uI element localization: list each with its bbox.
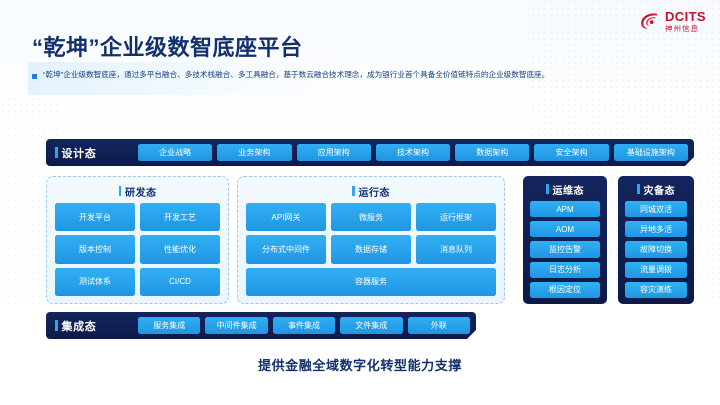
footer-caption: 提供金融全域数字化转型能力支撑 (0, 355, 720, 374)
dev-panel-row: 版本控制 性能优化 (55, 235, 220, 263)
dr-panel-row: 容灾演练 (625, 282, 687, 298)
runtime-panel-header: 运行态 (246, 183, 496, 199)
dev-panel-grid: 开发平台 开发工艺 版本控制 性能优化 测试体系 CI/CD (55, 203, 220, 296)
dr-panel-row: 同城双活 (625, 201, 687, 217)
dev-cell[interactable]: 性能优化 (140, 235, 220, 263)
runtime-panel: 运行态 API网关 微服务 运行框架 分布式中间件 数据存储 消息队列 容器服务 (237, 176, 505, 304)
dev-panel-row: 测试体系 CI/CD (55, 268, 220, 296)
ops-panel-label: 运维态 (553, 182, 585, 197)
dev-cell[interactable]: 开发工艺 (140, 203, 220, 231)
brand-logo: DCITS 神州信息 (639, 10, 706, 33)
tick-marker-icon (119, 186, 122, 196)
slide-canvas: DCITS 神州信息 “乾坤”企业级数智底座平台 “乾坤”企业级数智底座，通过多… (0, 0, 720, 405)
dev-cell[interactable]: 版本控制 (55, 235, 135, 263)
runtime-panel-grid: API网关 微服务 运行框架 分布式中间件 数据存储 消息队列 容器服务 (246, 203, 496, 296)
runtime-cell[interactable]: 容器服务 (246, 268, 496, 296)
ops-cell[interactable]: 根因定位 (530, 282, 600, 298)
integration-chip[interactable]: 文件集成 (340, 317, 402, 334)
ops-cell[interactable]: APM (530, 201, 600, 217)
design-chip[interactable]: 企业战略 (138, 144, 212, 161)
dr-cell[interactable]: 流量调拨 (625, 262, 687, 278)
dr-panel-row: 异地多活 (625, 221, 687, 237)
ops-cell[interactable]: AOM (530, 221, 600, 237)
design-chip[interactable]: 技术架构 (376, 144, 450, 161)
ops-panel-row: 根因定位 (530, 282, 600, 298)
tick-marker-icon (546, 184, 549, 194)
integration-layer-band: 集成态 服务集成 中间件集成 事件集成 文件集成 外联 (46, 312, 476, 339)
integration-layer-label: 集成态 (62, 318, 97, 334)
runtime-panel-row: API网关 微服务 运行框架 (246, 203, 496, 231)
ops-panel-row: 监控告警 (530, 241, 600, 257)
ops-panel-row: 日志分析 (530, 262, 600, 278)
dr-panel-row: 流量调拨 (625, 262, 687, 278)
page-title: “乾坤”企业级数智底座平台 (32, 30, 303, 62)
runtime-panel-row: 分布式中间件 数据存储 消息队列 (246, 235, 496, 263)
design-layer-label: 设计态 (62, 145, 97, 161)
runtime-cell[interactable]: API网关 (246, 203, 326, 231)
integration-chip[interactable]: 中间件集成 (205, 317, 267, 334)
runtime-cell[interactable]: 消息队列 (416, 235, 496, 263)
runtime-cell[interactable]: 微服务 (331, 203, 411, 231)
runtime-panel-label: 运行态 (359, 184, 391, 199)
dcits-swirl-icon (639, 10, 661, 32)
design-chip[interactable]: 应用架构 (297, 144, 371, 161)
dev-panel-row: 开发平台 开发工艺 (55, 203, 220, 231)
brand-name-en: DCITS (665, 10, 706, 23)
runtime-cell[interactable]: 数据存储 (331, 235, 411, 263)
architecture-diagram: 设计态 企业战略 业务架构 应用架构 技术架构 数据架构 安全架构 基础设施架构… (46, 139, 694, 339)
integration-layer-title: 集成态 (55, 318, 133, 334)
dev-panel-label: 研发态 (125, 184, 157, 199)
runtime-panel-row: 容器服务 (246, 268, 496, 296)
design-chip[interactable]: 基础设施架构 (614, 144, 688, 161)
tick-marker-icon (637, 184, 640, 194)
design-chip[interactable]: 安全架构 (534, 144, 608, 161)
ops-panel-row: APM (530, 201, 600, 217)
runtime-cell[interactable]: 分布式中间件 (246, 235, 326, 263)
brand-name-cn: 神州信息 (665, 25, 706, 33)
design-layer-band: 设计态 企业战略 业务架构 应用架构 技术架构 数据架构 安全架构 基础设施架构 (46, 139, 694, 166)
ops-panel-grid: APM AOM 监控告警 日志分析 根因定位 (530, 201, 600, 298)
ops-panel-header: 运维态 (530, 181, 600, 197)
ops-panel-row: AOM (530, 221, 600, 237)
subtitle-row: “乾坤”企业级数智底座，通过多平台融合、多技术栈融合、多工具融合，基于数云融合技… (32, 70, 692, 80)
dev-panel-header: 研发态 (55, 183, 220, 199)
dev-panel: 研发态 开发平台 开发工艺 版本控制 性能优化 测试体系 CI/CD (46, 176, 229, 304)
tick-marker-icon (55, 147, 58, 158)
dev-cell[interactable]: 开发平台 (55, 203, 135, 231)
ops-cell[interactable]: 监控告警 (530, 241, 600, 257)
dr-panel-row: 故障切换 (625, 241, 687, 257)
disaster-recovery-panel: 灾备态 同城双活 异地多活 故障切换 流量调拨 容灾演练 (618, 176, 694, 304)
design-layer-title: 设计态 (55, 145, 133, 161)
design-chip[interactable]: 业务架构 (217, 144, 291, 161)
integration-chip[interactable]: 服务集成 (138, 317, 200, 334)
dev-cell[interactable]: 测试体系 (55, 268, 135, 296)
dr-cell[interactable]: 故障切换 (625, 241, 687, 257)
bullet-marker-icon (32, 74, 37, 79)
dev-cell[interactable]: CI/CD (140, 268, 220, 296)
dr-cell[interactable]: 异地多活 (625, 221, 687, 237)
tick-marker-icon (352, 186, 355, 196)
tick-marker-icon (55, 320, 58, 331)
ops-cell[interactable]: 日志分析 (530, 262, 600, 278)
design-chip[interactable]: 数据架构 (455, 144, 529, 161)
dr-panel-grid: 同城双活 异地多活 故障切换 流量调拨 容灾演练 (625, 201, 687, 298)
dr-cell[interactable]: 同城双活 (625, 201, 687, 217)
ops-panel: 运维态 APM AOM 监控告警 日志分析 根因定位 (523, 176, 607, 304)
subtitle-text: “乾坤”企业级数智底座，通过多平台融合、多技术栈融合、多工具融合，基于数云融合技… (43, 70, 549, 80)
brand-wordmark: DCITS 神州信息 (665, 10, 706, 33)
dr-panel-label: 灾备态 (644, 182, 676, 197)
integration-chip[interactable]: 外联 (408, 317, 470, 334)
runtime-cell[interactable]: 运行框架 (416, 203, 496, 231)
dr-cell[interactable]: 容灾演练 (625, 282, 687, 298)
dr-panel-header: 灾备态 (625, 181, 687, 197)
integration-chip[interactable]: 事件集成 (273, 317, 335, 334)
